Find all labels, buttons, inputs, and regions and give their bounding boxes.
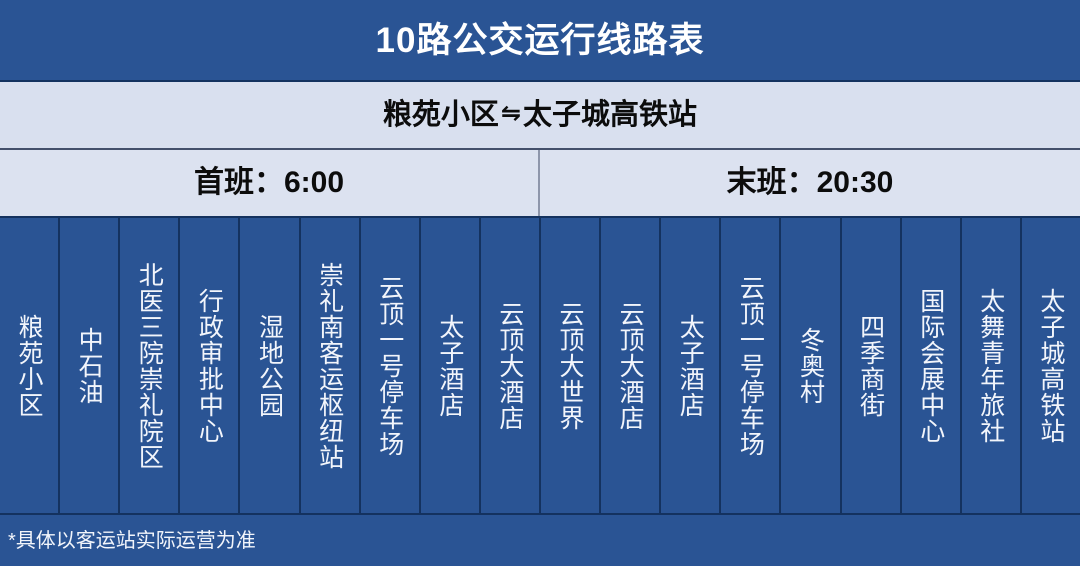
bidirectional-arrow-icon: ⇋ bbox=[501, 102, 521, 126]
station-name: 北医三院崇礼院区 bbox=[135, 262, 163, 470]
last-departure-cell: 末班：20:30 bbox=[540, 150, 1080, 216]
first-departure-label: 首班：6:00 bbox=[194, 168, 344, 198]
station-cell[interactable]: 四季商街 bbox=[842, 218, 902, 513]
route-origin: 粮苑小区 bbox=[383, 101, 499, 130]
station-name: 云顶大酒店 bbox=[616, 301, 644, 431]
station-name: 四季商街 bbox=[857, 314, 885, 418]
station-cell[interactable]: 崇礼南客运枢纽站 bbox=[301, 218, 361, 513]
service-hours-bar: 首班：6:00 末班：20:30 bbox=[0, 150, 1080, 218]
station-name: 湿地公园 bbox=[255, 314, 283, 418]
station-cell[interactable]: 粮苑小区 bbox=[0, 218, 60, 513]
bus-route-schedule-board: 10路公交运行线路表 粮苑小区⇋太子城高铁站 首班：6:00 末班：20:30 … bbox=[0, 0, 1080, 566]
station-name: 太舞青年旅社 bbox=[977, 288, 1005, 444]
footnote-bar: *具体以客运站实际运营为准 bbox=[0, 513, 1080, 566]
page-title: 10路公交运行线路表 bbox=[376, 23, 705, 58]
station-name: 崇礼南客运枢纽站 bbox=[316, 262, 344, 470]
station-cell[interactable]: 太子酒店 bbox=[421, 218, 481, 513]
station-name: 冬奥村 bbox=[796, 327, 824, 405]
station-cell[interactable]: 云顶大酒店 bbox=[481, 218, 541, 513]
station-name: 行政审批中心 bbox=[195, 288, 223, 444]
station-cell[interactable]: 云顶一号停车场 bbox=[721, 218, 781, 513]
route-destination: 太子城高铁站 bbox=[523, 101, 697, 130]
station-cell[interactable]: 国际会展中心 bbox=[902, 218, 962, 513]
station-cell[interactable]: 云顶大酒店 bbox=[601, 218, 661, 513]
station-cell[interactable]: 中石油 bbox=[60, 218, 120, 513]
first-departure-cell: 首班：6:00 bbox=[0, 150, 540, 216]
station-cell[interactable]: 太子城高铁站 bbox=[1022, 218, 1080, 513]
station-cell[interactable]: 云顶大世界 bbox=[541, 218, 601, 513]
station-name: 太子酒店 bbox=[676, 314, 704, 418]
route-summary: 粮苑小区⇋太子城高铁站 bbox=[383, 101, 697, 130]
station-name: 云顶一号停车场 bbox=[376, 275, 404, 457]
footnote-text: *具体以客运站实际运营为准 bbox=[0, 531, 256, 551]
station-name: 云顶大世界 bbox=[556, 301, 584, 431]
station-name: 中石油 bbox=[75, 327, 103, 405]
station-cell[interactable]: 湿地公园 bbox=[240, 218, 300, 513]
station-name: 国际会展中心 bbox=[917, 288, 945, 444]
station-cell[interactable]: 北医三院崇礼院区 bbox=[120, 218, 180, 513]
station-cell[interactable]: 行政审批中心 bbox=[180, 218, 240, 513]
station-cell[interactable]: 太子酒店 bbox=[661, 218, 721, 513]
last-departure-label: 末班：20:30 bbox=[727, 168, 894, 198]
station-cell[interactable]: 云顶一号停车场 bbox=[361, 218, 421, 513]
station-name: 太子酒店 bbox=[436, 314, 464, 418]
station-name: 太子城高铁站 bbox=[1037, 288, 1065, 444]
station-name: 云顶一号停车场 bbox=[736, 275, 764, 457]
station-cell[interactable]: 太舞青年旅社 bbox=[962, 218, 1022, 513]
title-bar: 10路公交运行线路表 bbox=[0, 0, 1080, 82]
station-name: 云顶大酒店 bbox=[496, 301, 524, 431]
stations-strip: 粮苑小区 中石油 北医三院崇礼院区 行政审批中心 湿地公园 崇礼南客运枢纽站 云… bbox=[0, 218, 1080, 513]
station-cell[interactable]: 冬奥村 bbox=[781, 218, 841, 513]
route-bar: 粮苑小区⇋太子城高铁站 bbox=[0, 82, 1080, 150]
station-name: 粮苑小区 bbox=[15, 314, 43, 418]
